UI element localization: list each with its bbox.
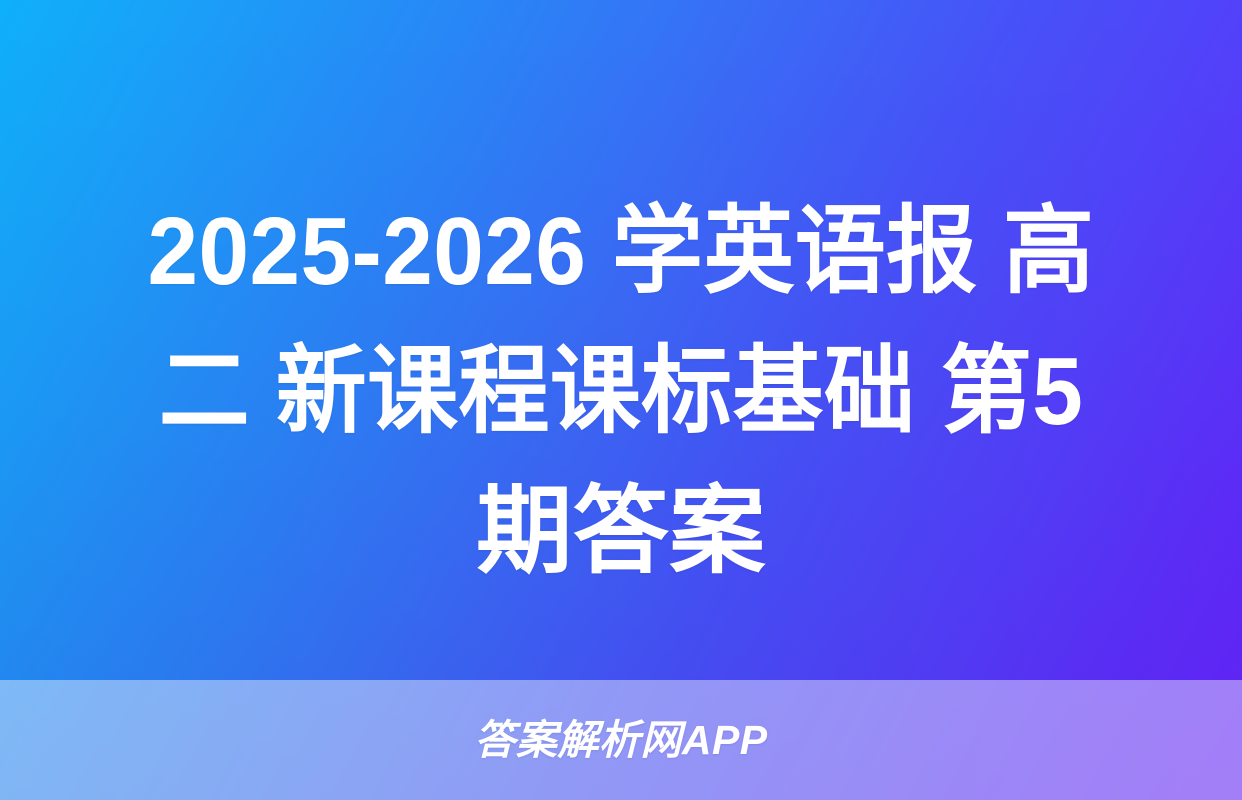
title-line-3: 期答案 [40,462,1202,602]
watermark-bar: 答案解析网APP [0,680,1242,800]
title-line-2: 二 新课程课标基础 第5 [71,322,1171,462]
page-title: 2025-2026 学英语报 高 二 新课程课标基础 第5 期答案 [0,182,1242,602]
watermark-label: 答案解析网APP [474,720,767,761]
banner-canvas: 2025-2026 学英语报 高 二 新课程课标基础 第5 期答案 答案解析网A… [0,0,1242,800]
title-line-1: 2025-2026 学英语报 高 [71,182,1171,322]
